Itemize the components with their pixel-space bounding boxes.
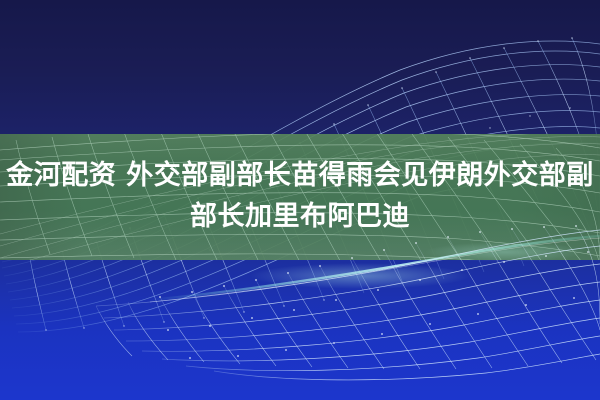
headline-line-1: 金河配资 外交部副部长苗得雨会见伊朗外交部副 — [6, 160, 593, 193]
headline-line-2: 部长加里布阿巴迪 — [190, 201, 410, 234]
banner-image: 金河配资 外交部副部长苗得雨会见伊朗外交部副 部长加里布阿巴迪 — [0, 0, 600, 400]
headline-text: 金河配资 外交部副部长苗得雨会见伊朗外交部副 部长加里布阿巴迪 — [0, 134, 600, 260]
